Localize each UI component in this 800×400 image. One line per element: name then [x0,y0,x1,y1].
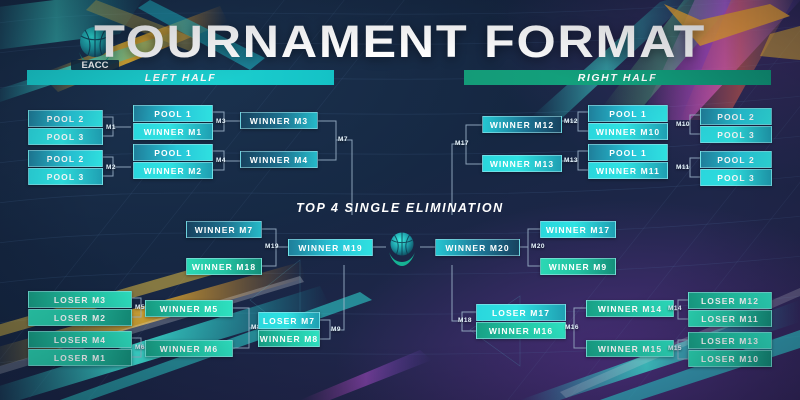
match-team-box[interactable]: WINNER M1 [133,123,213,140]
match-team-box[interactable]: WINNER M2 [133,162,213,179]
match-team-box[interactable]: LOSER M12 [688,292,772,309]
match-team-box[interactable]: WINNER M16 [476,322,566,339]
match-team-box[interactable]: WINNER M5 [145,300,233,317]
match-label-m17: M17 [455,140,469,147]
match-label-m10: M10 [676,121,690,128]
match-team-box[interactable]: LOSER M7 [258,312,320,329]
match-team-box[interactable]: LOSER M2 [28,309,132,326]
final-right-box[interactable]: WINNER M20 [435,239,520,256]
match-label-m18: M18 [458,317,472,324]
match-team-box[interactable]: WINNER M9 [540,258,616,275]
match-team-box[interactable]: WINNER M11 [588,162,668,179]
match-team-box[interactable]: WINNER M14 [586,300,674,317]
match-team-box[interactable]: POOL 2 [700,151,772,168]
match-team-box[interactable]: WINNER M4 [240,151,318,168]
match-team-box[interactable]: POOL 3 [700,126,772,143]
match-label-m2: M2 [106,164,116,171]
match-team-box[interactable]: POOL 1 [133,105,213,122]
match-label-m5: M5 [135,304,145,311]
match-team-box[interactable]: WINNER M13 [482,155,562,172]
match-team-box[interactable]: WINNER M8 [258,330,320,347]
match-team-box[interactable]: LOSER M3 [28,291,132,308]
match-label-m13: M13 [564,157,578,164]
match-team-box[interactable]: WINNER M7 [186,221,262,238]
match-team-box[interactable]: POOL 1 [588,144,668,161]
match-label-m3: M3 [216,118,226,125]
match-team-box[interactable]: POOL 2 [28,150,103,167]
match-label-m19: M19 [265,243,279,250]
tournament-ball-icon [381,228,423,270]
match-label-m11: M11 [676,164,690,171]
match-team-box[interactable]: LOSER M1 [28,349,132,366]
match-team-box[interactable]: LOSER M4 [28,331,132,348]
match-team-box[interactable]: WINNER M15 [586,340,674,357]
match-team-box[interactable]: POOL 1 [588,105,668,122]
match-label-m1: M1 [106,124,116,131]
match-team-box[interactable]: POOL 3 [28,128,103,145]
match-team-box[interactable]: LOSER M10 [688,350,772,367]
match-label-m6: M6 [135,344,145,351]
match-label-m16: M16 [565,324,579,331]
match-team-box[interactable]: POOL 3 [700,169,772,186]
match-team-box[interactable]: WINNER M18 [186,258,262,275]
match-team-box[interactable]: WINNER M17 [540,221,616,238]
match-label-m20: M20 [531,243,545,250]
match-team-box[interactable]: WINNER M3 [240,112,318,129]
final-left-box[interactable]: WINNER M19 [288,239,373,256]
match-team-box[interactable]: POOL 2 [700,108,772,125]
match-team-box[interactable]: POOL 1 [133,144,213,161]
match-team-box[interactable]: WINNER M6 [145,340,233,357]
match-team-box[interactable]: POOL 3 [28,168,103,185]
match-label-m9: M9 [331,326,341,333]
match-label-m14: M14 [668,305,682,312]
match-label-m12: M12 [564,118,578,125]
match-label-m15: M15 [668,345,682,352]
section-title: TOP 4 SINGLE ELIMINATION [0,201,800,215]
tournament-bracket-graphic: EACC 2023 ESPORTS TOURNAMENT FORMAT LEFT… [0,0,800,400]
match-team-box[interactable]: POOL 2 [28,110,103,127]
match-team-box[interactable]: LOSER M13 [688,332,772,349]
match-team-box[interactable]: LOSER M17 [476,304,566,321]
match-team-box[interactable]: WINNER M12 [482,116,562,133]
match-team-box[interactable]: LOSER M11 [688,310,772,327]
match-label-m4: M4 [216,157,226,164]
match-label-m7: M7 [338,136,348,143]
match-team-box[interactable]: WINNER M10 [588,123,668,140]
